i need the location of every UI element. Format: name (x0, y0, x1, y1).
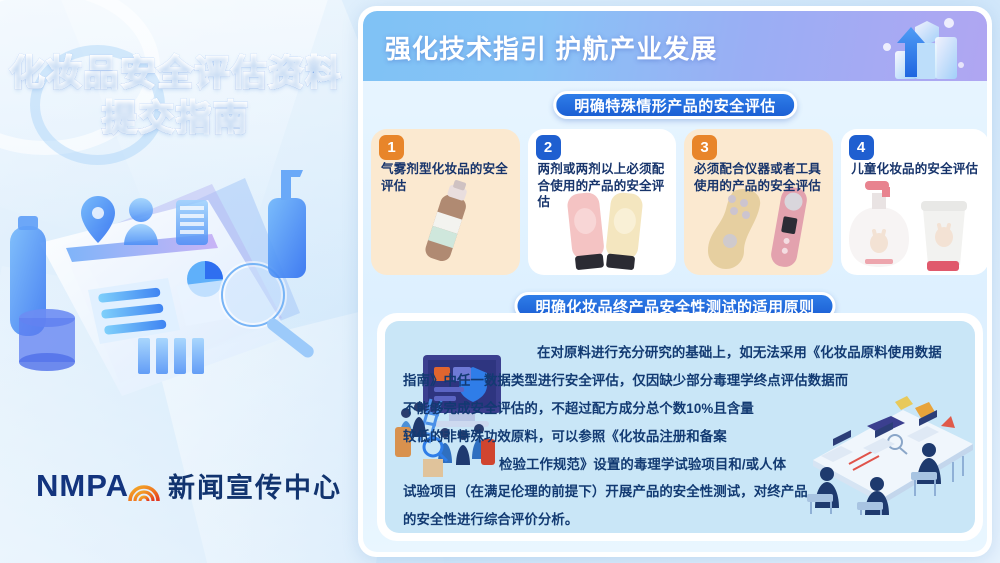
card-3-badge: 3 (692, 135, 717, 160)
principles-paragraph: 在对原料进行充分研究的基础上，如无法采用《化妆品原料使用数据 指南》中任一数据类… (385, 339, 975, 533)
nmpa-logo: NMPA 新闻宣传中心 (36, 466, 342, 505)
card-4-title: 儿童化妆品的安全评估 (847, 161, 984, 178)
paragraph-line-6: 试验项目（在满足伦理的前提下）开展产品的安全性测试，对终产品 (403, 478, 957, 506)
children-cosmetics-bunny-icon (841, 179, 988, 275)
card-4[interactable]: 4 儿童化妆品的安全评估 (841, 129, 988, 275)
card-1-title: 气雾剂型化妆品的安全评估 (381, 161, 512, 194)
poster-canvas: 化妆品安全评估资料 提交指南 (0, 0, 1000, 563)
content-panel: 强化技术指引 护航产业发展 (358, 6, 992, 557)
principles-textbox-inner: 在对原料进行充分研究的基础上，如无法采用《化妆品原料使用数据 指南》中任一数据类… (385, 321, 975, 533)
paragraph-line-2: 指南》中任一数据类型进行安全评估，仅因缺少部分毒理学终点评估数据而 (403, 367, 957, 395)
section-pill-1[interactable]: 明确特殊情形产品的安全评估 (553, 91, 797, 119)
poster-title-line-1: 化妆品安全评估资料 (0, 52, 352, 97)
card-2[interactable]: 2 两剂或两剂以上必须配合使用的产品的安全评估 (528, 129, 677, 275)
card-4-badge: 4 (849, 135, 874, 160)
product-cards-row: 1 气雾剂型化妆品的安全评估 2 两剂或两剂以上必须配合 (371, 129, 987, 275)
paragraph-line-4: 较低的非特殊功效原料，可以参照《化妆品注册和备案 (403, 423, 957, 451)
logo-cn-name: 新闻宣传中心 (168, 466, 342, 505)
growth-arrow-cubes-icon (865, 13, 973, 93)
panel-header: 强化技术指引 护航产业发展 (363, 11, 987, 81)
poster-title-line-2: 提交指南 (0, 97, 352, 142)
card-2-badge: 2 (536, 135, 561, 160)
paragraph-line-5: 检验工作规范》设置的毒理学试验项目和/或人体 (403, 451, 957, 479)
card-1-badge: 1 (379, 135, 404, 160)
cosmetics-analysis-3d-illustration (0, 148, 352, 448)
card-2-title: 两剂或两剂以上必须配合使用的产品的安全评估 (538, 161, 669, 211)
paragraph-line-7: 的安全性进行综合评价分析。 (403, 506, 957, 533)
card-3[interactable]: 3 必须配合仪器或者工具使用的产品的安全评估 (684, 129, 833, 275)
card-3-title: 必须配合仪器或者工具使用的产品的安全评估 (694, 161, 825, 194)
panel-header-title: 强化技术指引 护航产业发展 (385, 29, 717, 66)
principles-textbox: 在对原料进行充分研究的基础上，如无法采用《化妆品原料使用数据 指南》中任一数据类… (377, 313, 983, 541)
paragraph-line-1: 在对原料进行充分研究的基础上，如无法采用《化妆品原料使用数据 (403, 339, 957, 367)
card-1[interactable]: 1 气雾剂型化妆品的安全评估 (371, 129, 520, 275)
paragraph-line-3: 不能够完成安全评估的，不超过配方成分总个数10%且含量 (403, 395, 957, 423)
logo-brand-text: NMPA (36, 468, 129, 504)
poster-title: 化妆品安全评估资料 提交指南 (0, 52, 352, 142)
nmpa-arc-icon (127, 470, 161, 502)
content-panel-inner: 强化技术指引 护航产业发展 (363, 11, 987, 552)
